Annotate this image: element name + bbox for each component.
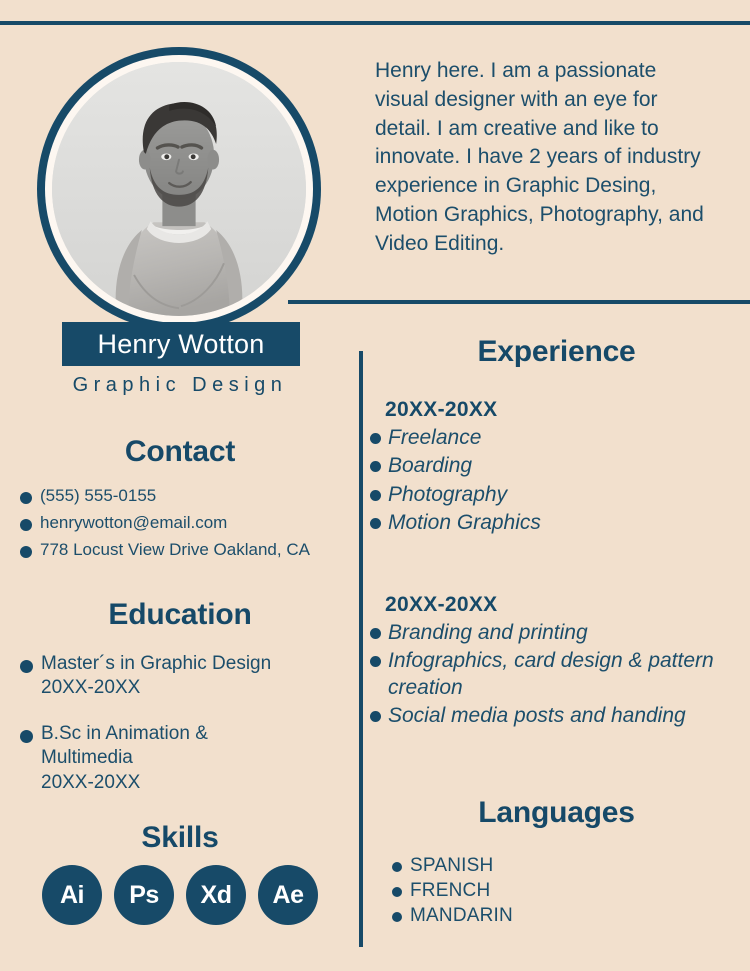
list-item: Motion Graphics xyxy=(370,510,730,536)
profile-photo-ring xyxy=(45,55,313,323)
bullet-icon xyxy=(392,912,402,922)
bullet-icon xyxy=(20,492,32,504)
resume-page: Henry Wotton Graphic Design Henry here. … xyxy=(0,0,750,971)
profile-photo-frame xyxy=(37,47,321,331)
list-item: Social media posts and handing xyxy=(370,703,730,729)
bullet-icon xyxy=(370,711,381,722)
header-divider-rule xyxy=(288,300,750,304)
bullet-icon xyxy=(20,730,33,743)
section-heading-contact: Contact xyxy=(0,435,360,469)
list-item: Boarding xyxy=(370,453,730,479)
photoshop-badge[interactable]: Ps xyxy=(114,865,174,925)
experience-item-label: Freelance xyxy=(388,425,481,451)
list-item: Photography xyxy=(370,482,730,508)
language-item-label: SPANISH xyxy=(410,855,493,877)
experience-item-list: Branding and printing Infographics, card… xyxy=(370,620,730,730)
contact-item-label: henrywotton@email.com xyxy=(40,513,227,533)
section-heading-experience: Experience xyxy=(363,335,750,369)
skill-badge-label: Xd xyxy=(201,881,232,910)
languages-list: SPANISH FRENCH MANDARIN xyxy=(392,855,712,930)
bullet-icon xyxy=(370,461,381,472)
list-item: FRENCH xyxy=(392,880,712,902)
list-item: Freelance xyxy=(370,425,730,451)
experience-block: 20XX-20XX Freelance Boarding Photography… xyxy=(385,398,730,539)
contact-item-label: 778 Locust View Drive Oakland, CA xyxy=(40,540,310,560)
list-item: Branding and printing xyxy=(370,620,730,646)
list-item: B.Sc in Animation &Multimedia20XX-20XX xyxy=(20,722,360,794)
experience-item-label: Infographics, card design & pattern crea… xyxy=(388,648,730,701)
skill-badge-label: Ae xyxy=(273,881,304,910)
experience-block: 20XX-20XX Branding and printing Infograp… xyxy=(385,593,730,732)
bullet-icon xyxy=(392,887,402,897)
contact-item-phone[interactable]: (555) 555-0155 xyxy=(20,486,360,506)
bullet-icon xyxy=(20,519,32,531)
experience-date-range: 20XX-20XX xyxy=(385,593,730,617)
language-item-label: FRENCH xyxy=(410,880,490,902)
bullet-icon xyxy=(370,628,381,639)
experience-item-label: Branding and printing xyxy=(388,620,588,646)
contact-item-email[interactable]: henrywotton@email.com xyxy=(20,513,360,533)
language-item-label: MANDARIN xyxy=(410,905,513,927)
bullet-icon xyxy=(370,518,381,529)
profile-name: Henry Wotton xyxy=(98,329,265,360)
experience-item-label: Photography xyxy=(388,482,507,508)
name-banner: Henry Wotton xyxy=(62,322,300,366)
xd-badge[interactable]: Xd xyxy=(186,865,246,925)
education-list: Master´s in Graphic Design20XX-20XX B.Sc… xyxy=(20,652,360,817)
section-heading-languages: Languages xyxy=(363,796,750,830)
aftereffects-badge[interactable]: Ae xyxy=(258,865,318,925)
experience-item-label: Boarding xyxy=(388,453,472,479)
top-divider-rule xyxy=(0,21,750,25)
bullet-icon xyxy=(392,862,402,872)
experience-date-range: 20XX-20XX xyxy=(385,398,730,422)
contact-list: (555) 555-0155 henrywotton@email.com 778… xyxy=(20,486,360,567)
list-item: SPANISH xyxy=(392,855,712,877)
skill-badge-label: Ai xyxy=(60,881,84,910)
contact-item-address[interactable]: 778 Locust View Drive Oakland, CA xyxy=(20,540,360,560)
portrait-illustration xyxy=(52,62,306,316)
profile-photo xyxy=(52,62,306,316)
contact-item-label: (555) 555-0155 xyxy=(40,486,156,506)
list-item: Infographics, card design & pattern crea… xyxy=(370,648,730,701)
illustrator-badge[interactable]: Ai xyxy=(42,865,102,925)
bullet-icon xyxy=(370,433,381,444)
experience-item-label: Social media posts and handing xyxy=(388,703,686,729)
bullet-icon xyxy=(20,660,33,673)
experience-item-list: Freelance Boarding Photography Motion Gr… xyxy=(370,425,730,537)
bullet-icon xyxy=(370,490,381,501)
section-heading-education: Education xyxy=(0,598,360,632)
list-item: Master´s in Graphic Design20XX-20XX xyxy=(20,652,360,700)
profile-title: Graphic Design xyxy=(0,374,360,397)
profile-bio: Henry here. I am a passionate visual des… xyxy=(375,57,705,258)
education-item-label: Master´s in Graphic Design20XX-20XX xyxy=(41,652,271,700)
skills-badge-row: Ai Ps Xd Ae xyxy=(0,865,360,925)
section-heading-skills: Skills xyxy=(0,821,360,855)
bullet-icon xyxy=(370,656,381,667)
skill-badge-label: Ps xyxy=(129,881,159,910)
experience-item-label: Motion Graphics xyxy=(388,510,541,536)
list-item: MANDARIN xyxy=(392,905,712,927)
education-item-label: B.Sc in Animation &Multimedia20XX-20XX xyxy=(41,722,208,794)
bullet-icon xyxy=(20,546,32,558)
